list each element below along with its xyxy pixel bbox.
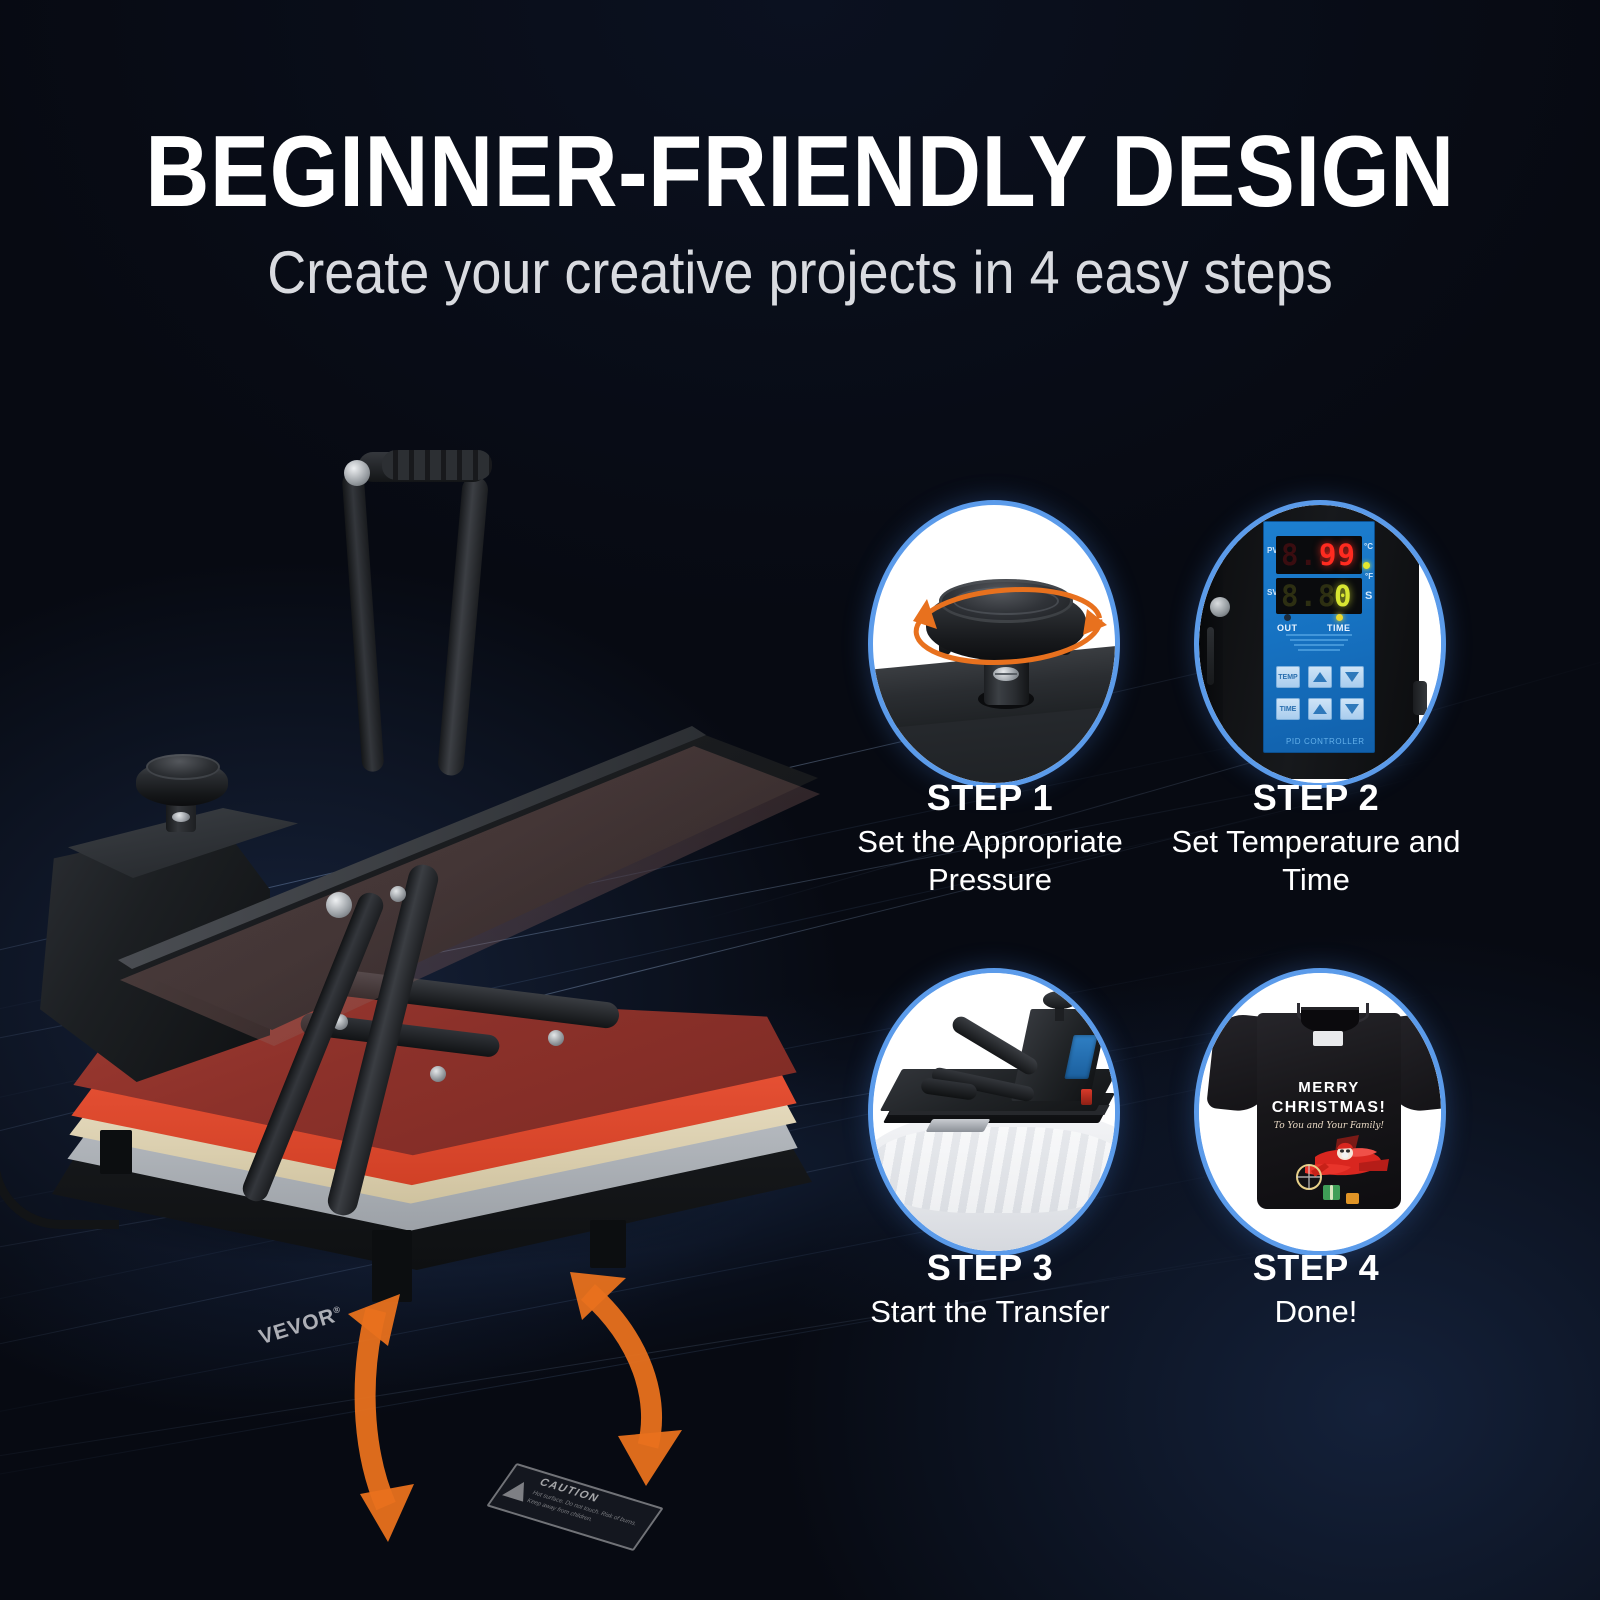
handle-upper-arm-left [342, 472, 385, 773]
step-4-caption: STEP 4 Done! [1136, 1248, 1496, 1331]
chevron-down-icon [1345, 704, 1359, 714]
pv-value: 99 [1319, 541, 1356, 570]
chevron-up-icon [1313, 704, 1327, 714]
pressure-knob-top [146, 754, 220, 780]
fahrenheit-led [1363, 562, 1370, 569]
handle-pivot-bolt [344, 460, 370, 486]
time-display: 8.8 0 [1276, 578, 1362, 614]
white-fabric [873, 1111, 1115, 1251]
sv-dim-digits: 8.8 [1281, 582, 1336, 611]
time-button[interactable]: TIME [1276, 698, 1300, 720]
celsius-label: °C [1364, 542, 1373, 551]
temp-down-button[interactable] [1340, 666, 1364, 688]
step-3-image [868, 968, 1120, 1256]
printed-tshirt: MERRY CHRISTMAS! To You and Your Family! [1213, 995, 1441, 1211]
chevron-up-icon [1313, 672, 1327, 682]
brand-text: VEVOR [256, 1304, 338, 1349]
platen-pivot-bolt [548, 1030, 564, 1046]
page-subtitle: Create your creative projects in 4 easy … [80, 243, 1520, 303]
rotation-arrow-icon [901, 571, 1115, 681]
gift-box-green-ribbon [1330, 1185, 1333, 1200]
time-up-button[interactable] [1308, 698, 1332, 720]
step-4-label: STEP 4 [1136, 1248, 1496, 1288]
step-3-label: STEP 3 [810, 1248, 1170, 1288]
handle-upper-arm-right [437, 475, 489, 776]
heat-press-product-image: CAUTION Hot surface. Do not touch. Risk … [0, 430, 900, 1380]
digital-controller[interactable]: PV SV 8.8 99 8.8 0 °C °F S OUT TIME [1263, 521, 1375, 753]
time-down-button[interactable] [1340, 698, 1364, 720]
print-line-2: CHRISTMAS! [1259, 1099, 1399, 1117]
chevron-down-icon [1345, 672, 1359, 682]
step-1-image [868, 500, 1120, 788]
step-3-description: Start the Transfer [810, 1293, 1170, 1330]
step-2-label: STEP 2 [1136, 778, 1496, 818]
decorative-stripes [1280, 634, 1358, 656]
step-2-image: PV SV 8.8 99 8.8 0 °C °F S OUT TIME [1194, 500, 1446, 788]
handle-grip[interactable] [382, 450, 492, 480]
machine-foot [100, 1130, 132, 1174]
step-3-caption: STEP 3 Start the Transfer [810, 1248, 1170, 1331]
temp-up-button[interactable] [1308, 666, 1332, 688]
press-pressure-knob[interactable] [1043, 991, 1077, 1009]
side-switch[interactable] [1413, 681, 1427, 715]
step-4-description: Done! [1136, 1293, 1496, 1330]
controller-brand: PID CONTROLLER [1286, 737, 1365, 746]
temperature-display: 8.8 99 [1276, 536, 1362, 574]
power-switch[interactable] [1081, 1089, 1092, 1105]
time-led-label: TIME [1327, 623, 1351, 633]
sv-value: 0 [1334, 582, 1352, 611]
step-2-caption: STEP 2 Set Temperature and Time [1136, 778, 1496, 898]
infographic-page: BEGINNER-FRIENDLY DESIGN Create your cre… [0, 0, 1600, 1600]
press-name-plate [926, 1119, 991, 1132]
close-motion-arrows [330, 1270, 790, 1600]
fahrenheit-label: °F [1365, 572, 1373, 581]
time-led [1336, 614, 1343, 621]
handle-pivot-bolt [326, 892, 352, 918]
housing-wire [1207, 627, 1214, 685]
housing-bolt [1210, 597, 1230, 617]
temp-button[interactable]: TEMP [1276, 666, 1300, 688]
out-label: OUT [1277, 623, 1298, 633]
print-line-1: MERRY [1259, 1079, 1399, 1096]
step-4-image: MERRY CHRISTMAS! To You and Your Family! [1194, 968, 1446, 1256]
step-1-description: Set the Appropriate Pressure [810, 823, 1170, 897]
pressure-knob-screw [172, 812, 190, 822]
step-1-label: STEP 1 [810, 778, 1170, 818]
seconds-label: S [1365, 590, 1372, 602]
out-led [1284, 614, 1291, 621]
tshirt-neckline [1301, 1007, 1359, 1033]
platen-pivot-bolt [430, 1066, 446, 1082]
step-1-caption: STEP 1 Set the Appropriate Pressure [810, 778, 1170, 898]
santa-airplane-artwork [1285, 1133, 1395, 1195]
page-title: BEGINNER-FRIENDLY DESIGN [96, 122, 1504, 223]
step-2-description: Set Temperature and Time [1136, 823, 1496, 897]
gift-box-orange [1346, 1193, 1359, 1204]
machine-foot [590, 1220, 626, 1268]
handle-pivot-bolt [390, 886, 406, 902]
print-line-3: To You and Your Family! [1259, 1121, 1399, 1131]
tshirt-label-tag [1313, 1031, 1343, 1046]
